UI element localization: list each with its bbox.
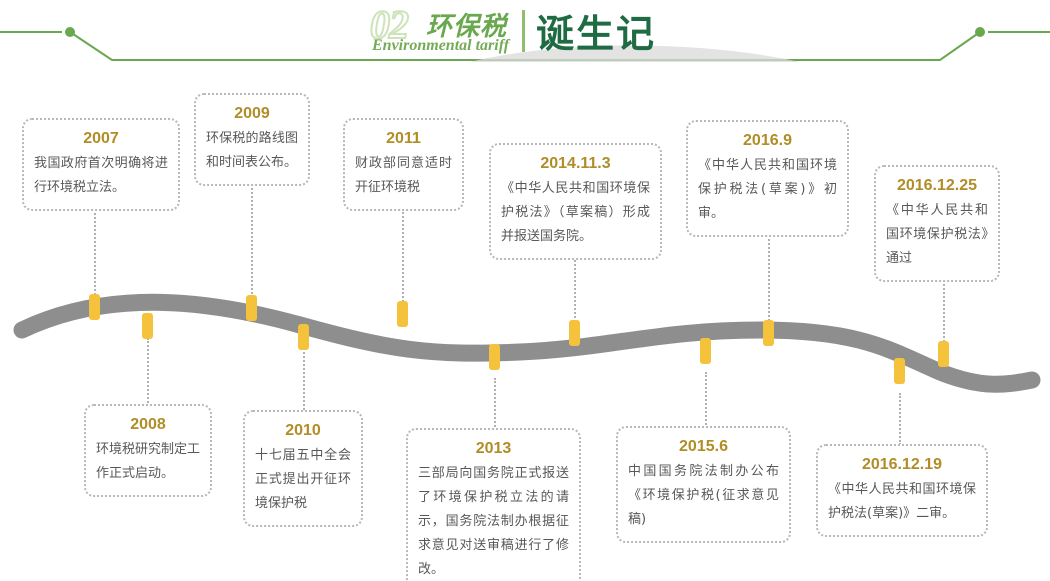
card-body: 十七届五中全会正式提出开征环境保护税 <box>255 444 351 516</box>
marker-2009 <box>246 295 257 321</box>
timeline-card-2015-6[interactable]: 2015.6 中国国务院法制办公布《环境保护税(征求意见稿) <box>616 426 791 543</box>
timeline-card-2013[interactable]: 2013 三部局向国务院正式报送了环境保护税立法的请示，国务院法制办根据征求意见… <box>406 428 581 581</box>
card-year: 2015.6 <box>628 436 779 458</box>
page-title: 诞生记 <box>536 3 656 58</box>
card-year: 2016.9 <box>698 130 837 152</box>
marker-2014 <box>569 320 580 346</box>
marker-2015 <box>700 338 711 364</box>
infographic-page: 02 环保税 Environmental tariff 诞生记 2007 我国政… <box>0 0 1050 581</box>
connector-2008 <box>147 338 149 410</box>
timeline-card-2008[interactable]: 2008 环境税研究制定工作正式启动。 <box>84 404 212 497</box>
marker-2016-12-25 <box>938 341 949 367</box>
card-body: 中国国务院法制办公布《环境保护税(征求意见稿) <box>628 460 779 532</box>
card-year: 2016.12.25 <box>886 175 988 197</box>
timeline-card-2016-9[interactable]: 2016.9 《中华人民共和国环境保护税法(草案)》初审。 <box>686 120 849 237</box>
card-body: 《中华人民共和国环境保护税法(草案)》初审。 <box>698 154 837 226</box>
timeline-card-2010[interactable]: 2010 十七届五中全会正式提出开征环境保护税 <box>243 410 363 527</box>
card-year: 2009 <box>206 103 298 125</box>
connector-2013 <box>494 378 496 430</box>
card-year: 2008 <box>96 414 200 436</box>
timeline-card-2016-12-19[interactable]: 2016.12.19 《中华人民共和国环境保护税法(草案)》二审。 <box>816 444 988 537</box>
header-en-label: Environmental tariff <box>372 37 509 55</box>
card-year: 2010 <box>255 420 351 442</box>
connector-2014 <box>574 253 576 325</box>
card-body: 《中华人民共和国环境保护税法》（草案稿）形成并报送国务院。 <box>501 177 650 249</box>
card-body: 环境税研究制定工作正式启动。 <box>96 438 200 486</box>
timeline-card-2011[interactable]: 2011 财政部同意适时开征环境税 <box>343 118 464 211</box>
connector-2007 <box>94 206 96 302</box>
marker-2010 <box>298 324 309 350</box>
marker-2008 <box>142 313 153 339</box>
header-divider <box>522 10 525 52</box>
connector-2011 <box>402 205 404 305</box>
connector-2015 <box>705 372 707 428</box>
card-body: 环保税的路线图和时间表公布。 <box>206 127 298 175</box>
timeline-card-2016-12-25[interactable]: 2016.12.25 《中华人民共和国环境保护税法》通过 <box>874 165 1000 282</box>
card-body: 三部局向国务院正式报送了环境保护税立法的请示，国务院法制办根据征求意见对送审稿进… <box>418 462 569 581</box>
marker-2016-12-19 <box>894 358 905 384</box>
connector-2009 <box>251 180 253 298</box>
card-year: 2014.11.3 <box>501 153 650 175</box>
marker-2007 <box>89 294 100 320</box>
page-header: 02 环保税 Environmental tariff 诞生记 <box>0 0 1050 70</box>
card-body: 《中华人民共和国环境保护税法(草案)》二审。 <box>828 478 976 526</box>
marker-2016-9 <box>763 320 774 346</box>
timeline-card-2007[interactable]: 2007 我国政府首次明确将进行环境税立法。 <box>22 118 180 211</box>
card-year: 2011 <box>355 128 452 150</box>
card-body: 财政部同意适时开征环境税 <box>355 152 452 200</box>
marker-2011 <box>397 301 408 327</box>
card-year: 2007 <box>34 128 168 150</box>
connector-2016-12-19 <box>899 393 901 445</box>
connector-2010 <box>303 348 305 410</box>
marker-2013 <box>489 344 500 370</box>
card-body: 我国政府首次明确将进行环境税立法。 <box>34 152 168 200</box>
card-year: 2016.12.19 <box>828 454 976 476</box>
card-body: 《中华人民共和国环境保护税法》通过 <box>886 199 988 271</box>
timeline-card-2009[interactable]: 2009 环保税的路线图和时间表公布。 <box>194 93 310 186</box>
card-year: 2013 <box>418 438 569 460</box>
timeline-card-2014-11-3[interactable]: 2014.11.3 《中华人民共和国环境保护税法》（草案稿）形成并报送国务院。 <box>489 143 662 260</box>
